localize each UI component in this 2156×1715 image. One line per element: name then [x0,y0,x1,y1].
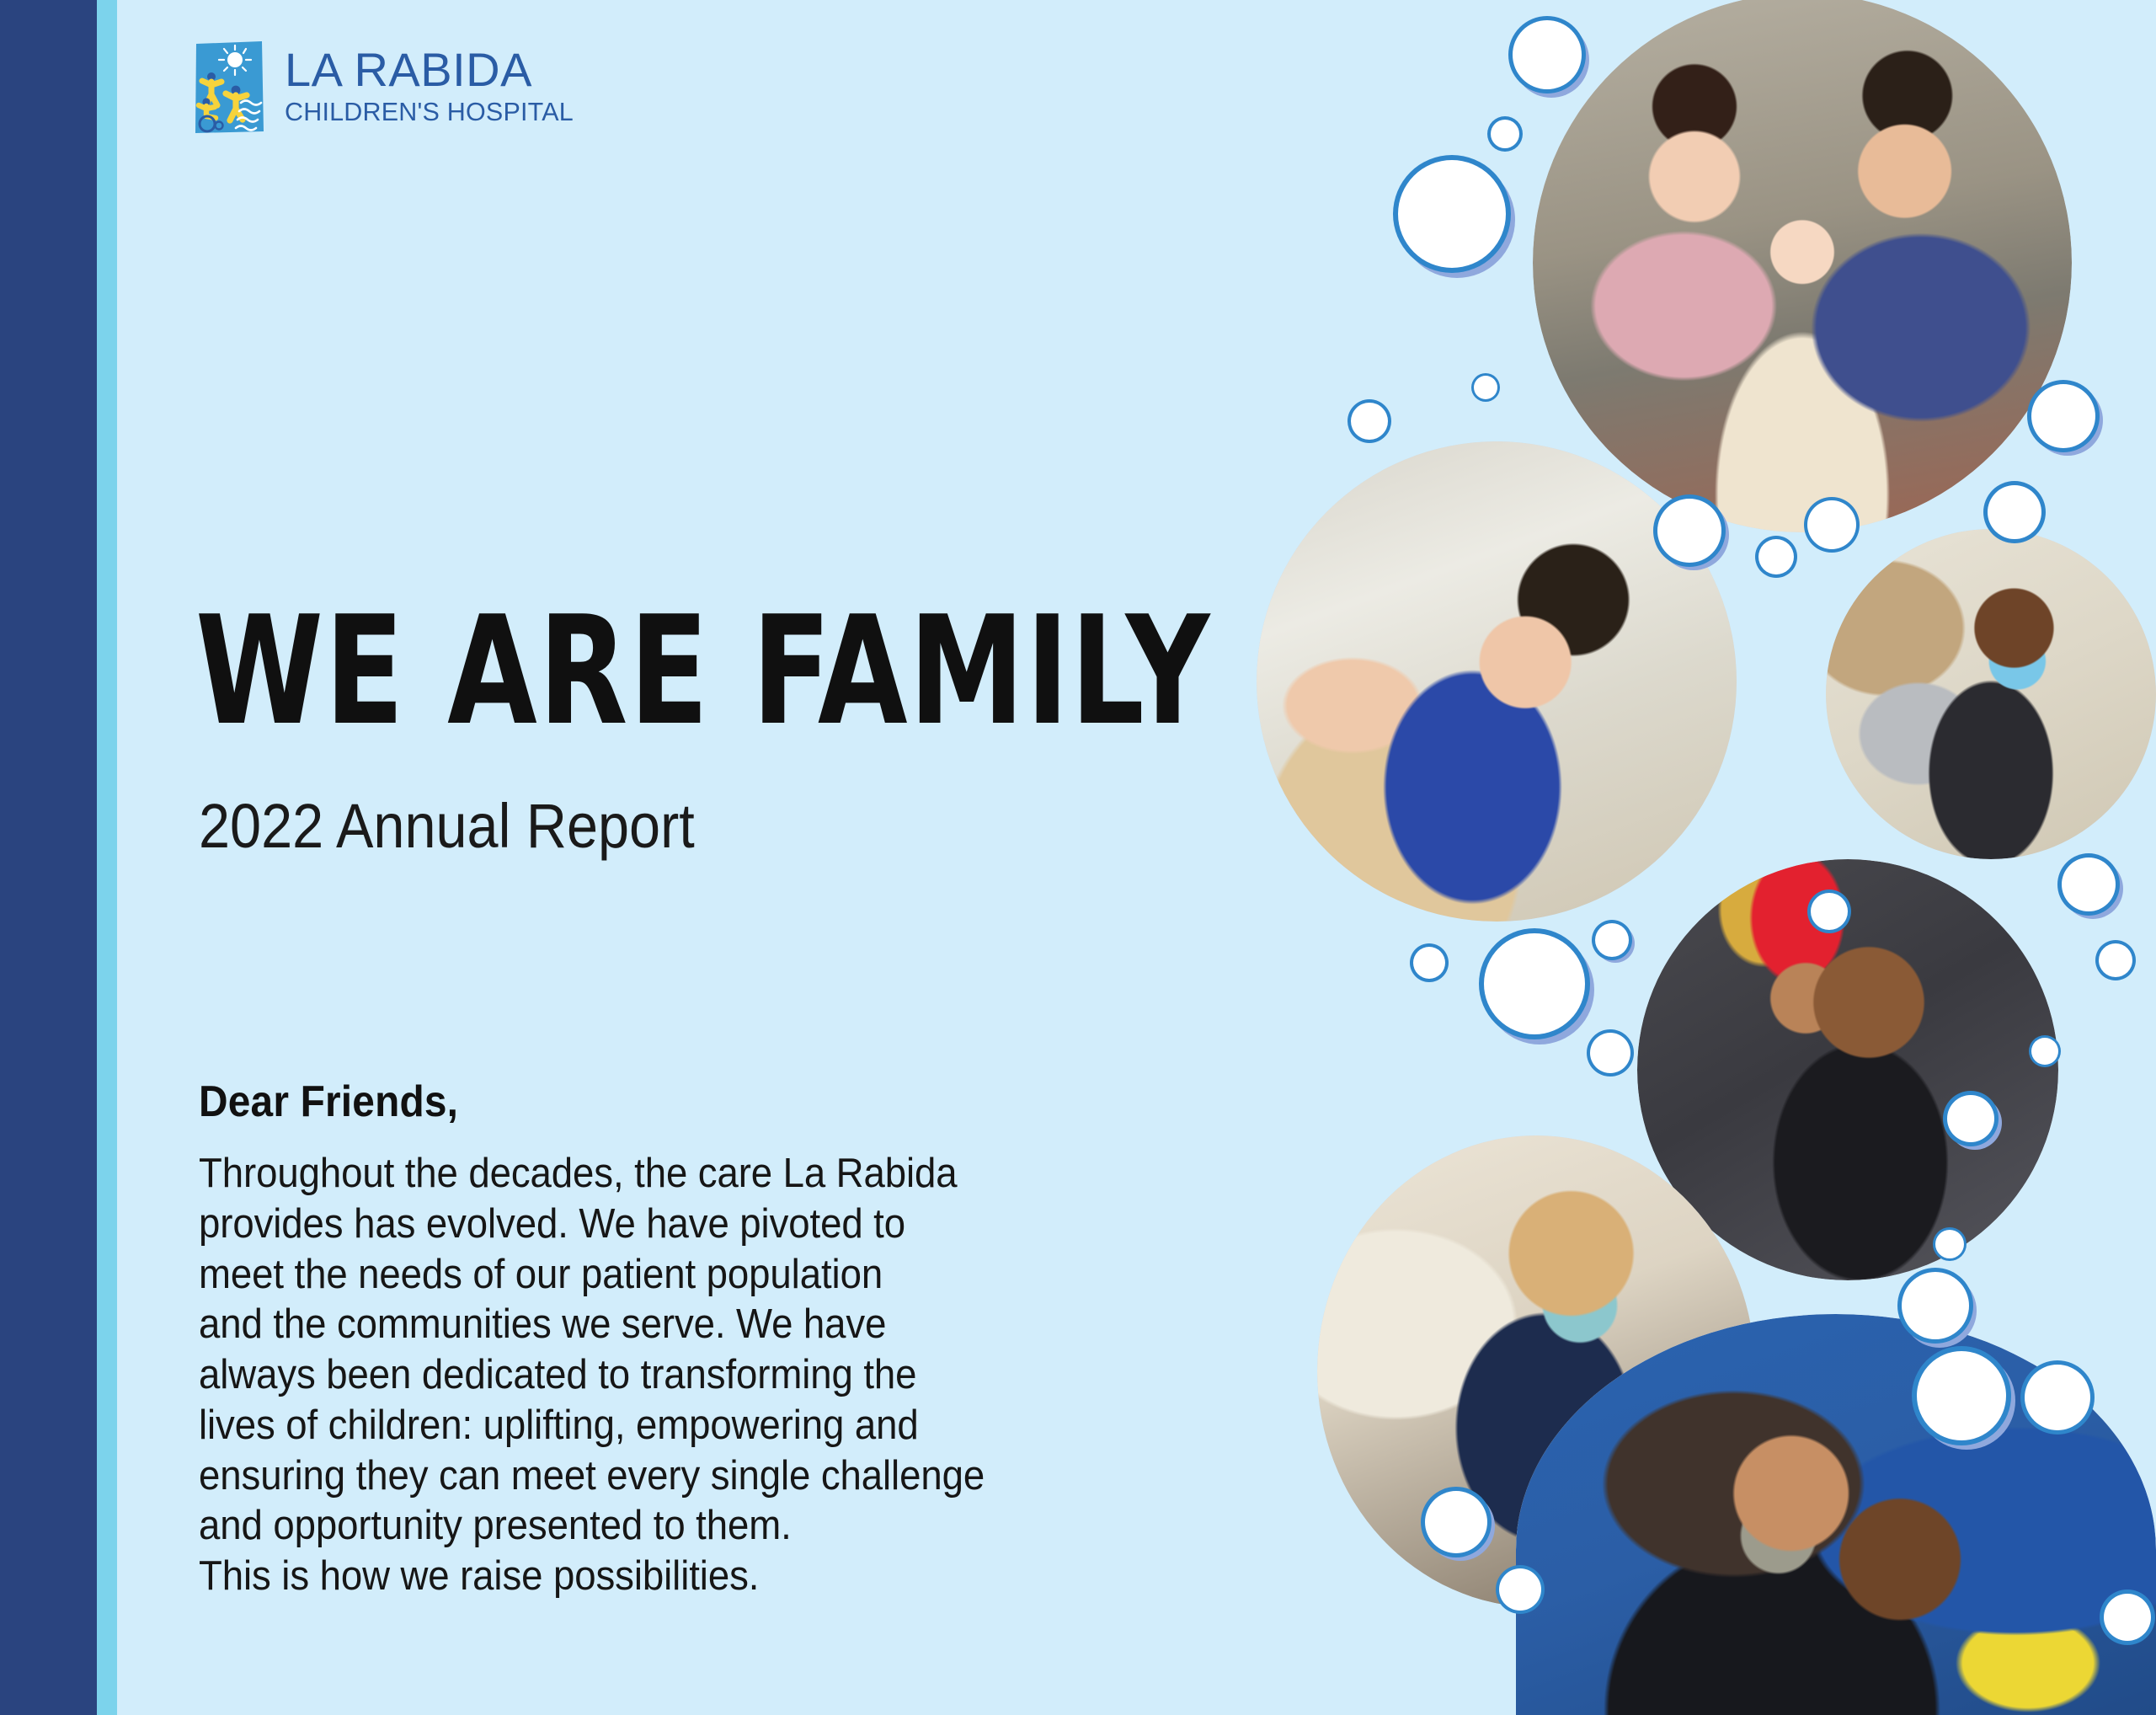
bubble-decor [2025,1365,2090,1430]
photo-boy-thumbs-up [1826,529,2156,859]
bubble-decor [1758,539,1794,574]
bubble-decor [2104,1594,2151,1641]
letter-body: Throughout the decades, the care La Rabi… [199,1149,1068,1602]
bubble-decor [1491,120,1519,148]
brand-logo-wordmark: LA RABIDA CHILDREN'S HOSPITAL [285,40,574,127]
bubble-decor [1811,893,1848,930]
la-rabida-logo-icon [194,40,264,135]
bubble-decor [1988,485,2041,539]
bubble-decor [1413,947,1445,979]
bubble-decor [1425,1491,1487,1553]
bubble-decor [1513,20,1582,89]
bubble-decor [1590,1033,1630,1073]
bubble-decor [1917,1351,2006,1440]
letter-block: Dear Friends, Throughout the decades, th… [199,1077,1134,1602]
photo-family-birthday-image [1533,0,2072,532]
bubble-decor [2062,857,2116,911]
bubble-decor [1902,1272,1969,1339]
bubble-decor [1398,160,1506,268]
report-cover-page: LA RABIDA CHILDREN'S HOSPITAL WE ARE FAM… [0,0,2156,1715]
bubble-decor [1947,1095,1994,1142]
bubble-decor [1657,499,1721,563]
page-title: WE ARE FAMILY [195,602,1211,740]
bubble-decor [1351,403,1388,440]
bubble-decor [1935,1230,1964,1258]
brand-tagline: CHILDREN'S HOSPITAL [285,99,574,127]
bubble-decor [1499,1568,1541,1611]
bubble-decor [1484,933,1585,1034]
bubble-decor [2031,384,2095,448]
photo-family-birthday [1533,0,2072,532]
photo-boy-thumbs-up-image [1826,529,2156,859]
bubble-decor [2099,943,2132,977]
brand-logo: LA RABIDA CHILDREN'S HOSPITAL [194,40,574,135]
left-cyan-stripe [97,0,117,1715]
left-navy-stripe [0,0,97,1715]
bubble-decor [1474,376,1497,399]
bubble-decor [1595,923,1629,957]
brand-name: LA RABIDA [285,45,574,93]
page-subtitle: 2022 Annual Report [199,792,695,860]
bubble-decor [1807,500,1856,549]
bubble-decor [2031,1038,2058,1065]
letter-greeting: Dear Friends, [199,1077,1059,1127]
